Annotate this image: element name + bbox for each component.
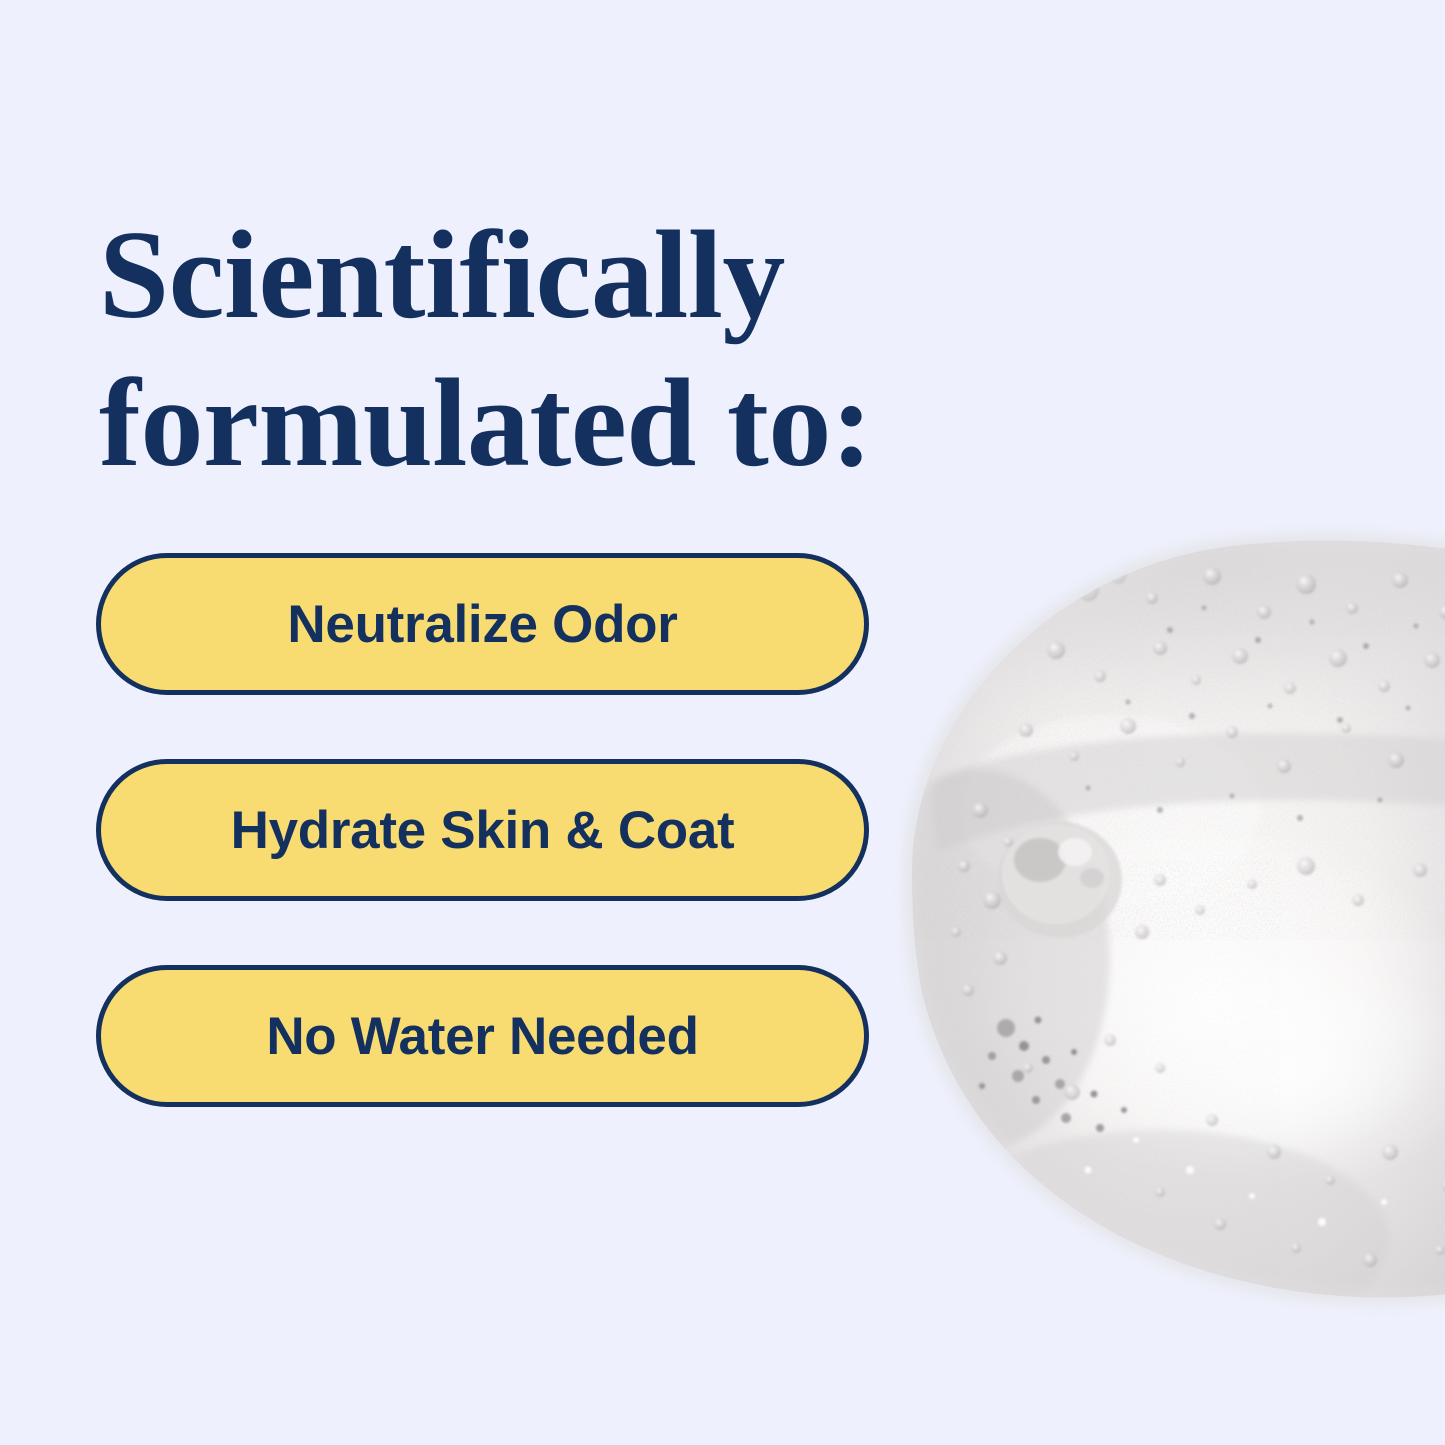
foam-body (860, 480, 1445, 1360)
benefit-pill-label: No Water Needed (266, 1010, 698, 1063)
bubbles-medium (951, 567, 1445, 1267)
benefit-pill-no-water-needed[interactable]: No Water Needed (96, 965, 869, 1107)
foam-blob-image (860, 480, 1445, 1360)
product-benefits-graphic: Scientifically formulated to: Neutralize… (0, 0, 1445, 1445)
bubbles-fine (1086, 606, 1445, 828)
page-title: Scientifically formulated to: (99, 202, 979, 497)
benefit-pill-label: Neutralize Odor (287, 598, 677, 651)
benefit-pill-label: Hydrate Skin & Coat (231, 804, 735, 857)
bubbles-dark-cluster (979, 1017, 1127, 1133)
large-bubble-cluster (998, 822, 1122, 938)
benefit-pill-list: Neutralize Odor Hydrate Skin & Coat No W… (96, 553, 869, 1107)
foam-edge-feather (912, 541, 1445, 1298)
foam-blob-icon (860, 480, 1445, 1360)
foam-halo (916, 547, 1445, 1292)
bubble-glints (1085, 1137, 1445, 1232)
benefit-pill-hydrate-skin-and-coat[interactable]: Hydrate Skin & Coat (96, 759, 869, 901)
benefit-pill-neutralize-odor[interactable]: Neutralize Odor (96, 553, 869, 695)
